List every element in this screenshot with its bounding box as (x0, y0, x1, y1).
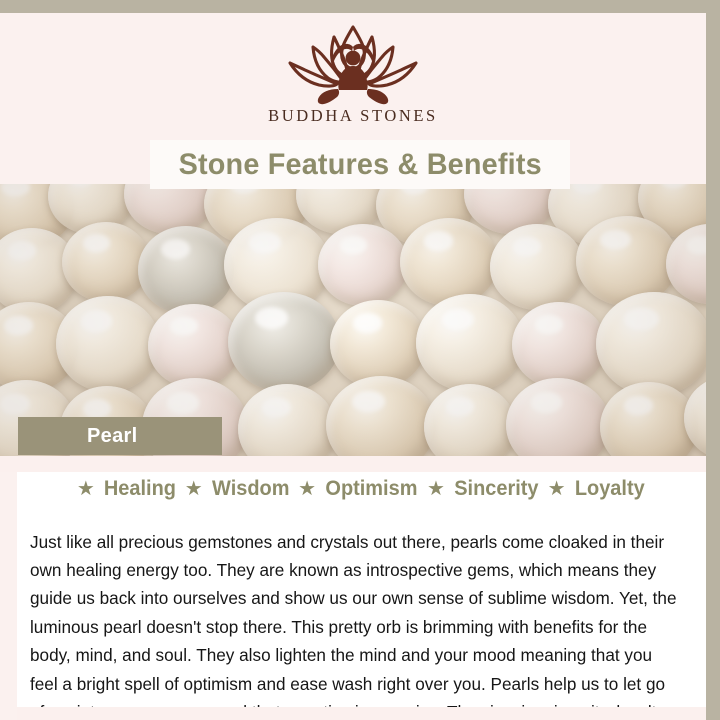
benefit-label: Wisdom (212, 477, 289, 501)
benefit-item-optimism: ★ Optimism (298, 477, 420, 501)
card-surface: BUDDHA STONES Stone Features & Benefits (0, 13, 706, 720)
benefit-item-sincerity: ★ Sincerity (427, 477, 541, 501)
benefit-item-healing: ★ Healing (77, 477, 178, 501)
stone-name: Pearl (87, 425, 137, 448)
content-panel: ★ Healing ★ Wisdom ★ Optimism ★ Sincerit… (17, 472, 706, 707)
benefits-row: ★ Healing ★ Wisdom ★ Optimism ★ Sincerit… (17, 477, 706, 501)
benefit-item-wisdom: ★ Wisdom (185, 477, 291, 501)
stone-name-bar: Pearl (18, 417, 222, 455)
benefit-item-loyalty: ★ Loyalty (548, 477, 646, 501)
star-icon: ★ (548, 479, 566, 499)
pearl-photo-content (0, 184, 706, 456)
benefit-label: Sincerity (454, 477, 538, 501)
star-icon: ★ (427, 479, 445, 499)
benefit-label: Optimism (325, 477, 417, 501)
description-text: Just like all precious gemstones and cry… (30, 528, 678, 720)
brand-name: BUDDHA STONES (0, 106, 706, 126)
bottom-edge-strip (17, 707, 706, 720)
lotus-meditation-icon (278, 21, 428, 105)
brand-logo: BUDDHA STONES (0, 21, 706, 126)
section-title-band: Stone Features & Benefits (150, 140, 570, 189)
benefit-label: Loyalty (574, 477, 644, 501)
page-title: Stone Features & Benefits (178, 148, 541, 182)
star-icon: ★ (298, 479, 316, 499)
star-icon: ★ (77, 479, 95, 499)
benefit-label: Healing (104, 477, 176, 501)
star-icon: ★ (185, 479, 203, 499)
stone-benefits-infographic: BUDDHA STONES Stone Features & Benefits (0, 0, 720, 720)
pearl-photo (0, 184, 706, 456)
photo-bottom-strip (0, 456, 706, 472)
